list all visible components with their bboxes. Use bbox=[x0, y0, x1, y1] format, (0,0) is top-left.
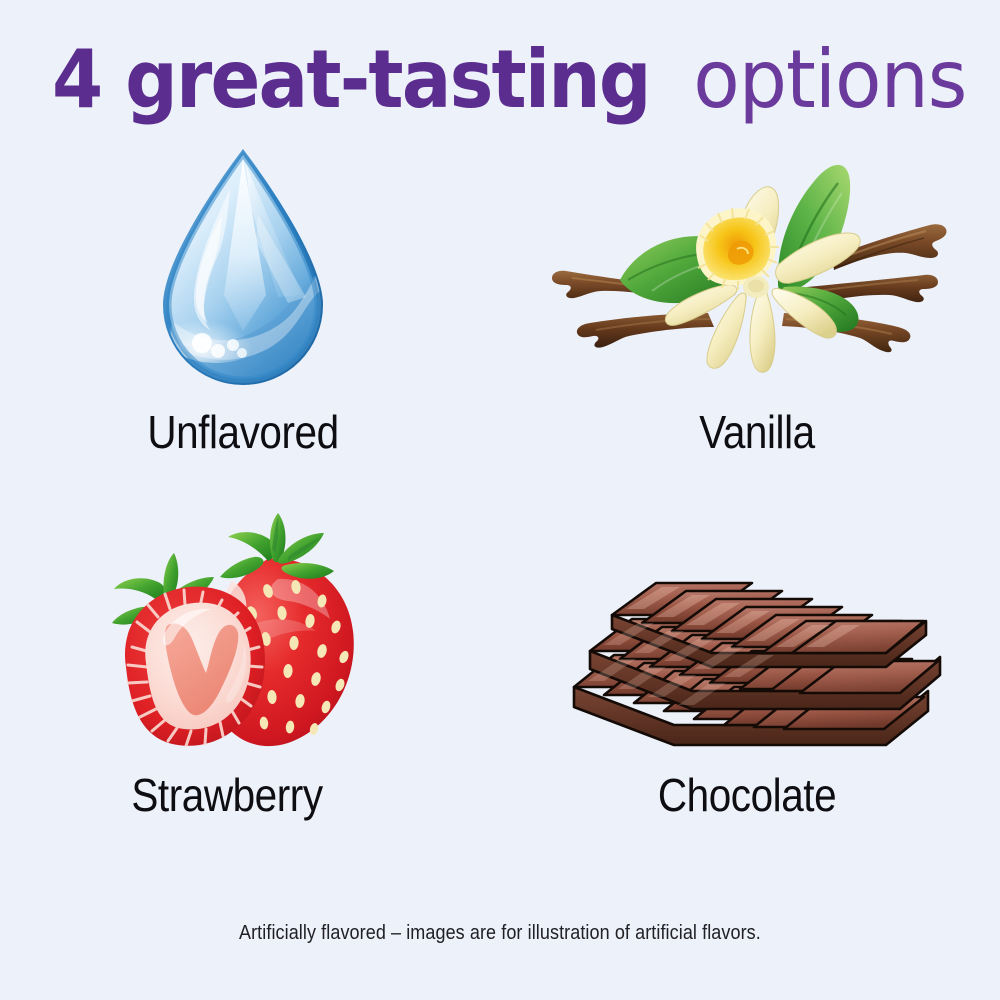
flavor-card-strawberry: Strawberry bbox=[30, 510, 500, 830]
water-droplet-icon bbox=[8, 145, 478, 395]
chocolate-bars-icon bbox=[516, 520, 986, 770]
page-title-strong: 4 great-tasting bbox=[52, 40, 650, 120]
flavor-label-unflavored: Unflavored bbox=[36, 405, 450, 459]
strawberry-icon bbox=[0, 510, 462, 760]
page-title-light: options bbox=[693, 40, 966, 120]
flavor-label-chocolate: Chocolate bbox=[540, 768, 954, 822]
footer-disclaimer: Artificially flavored – images are for i… bbox=[0, 922, 1000, 945]
flavor-card-unflavored: Unflavored bbox=[30, 155, 500, 475]
flavor-grid: Unflavored bbox=[30, 155, 970, 875]
flavor-label-strawberry: Strawberry bbox=[20, 768, 434, 822]
flavor-card-chocolate: Chocolate bbox=[500, 510, 970, 830]
page-title: 4 great-tastingoptions bbox=[0, 40, 1000, 120]
promo-page: 4 great-tastingoptions bbox=[0, 0, 1000, 1000]
vanilla-flower-and-pods-icon bbox=[512, 137, 982, 387]
footer-disclaimer-text: Artificially flavored – images are for i… bbox=[239, 922, 761, 945]
flavor-card-vanilla: Vanilla bbox=[500, 155, 970, 475]
flavor-label-vanilla: Vanilla bbox=[550, 405, 964, 459]
